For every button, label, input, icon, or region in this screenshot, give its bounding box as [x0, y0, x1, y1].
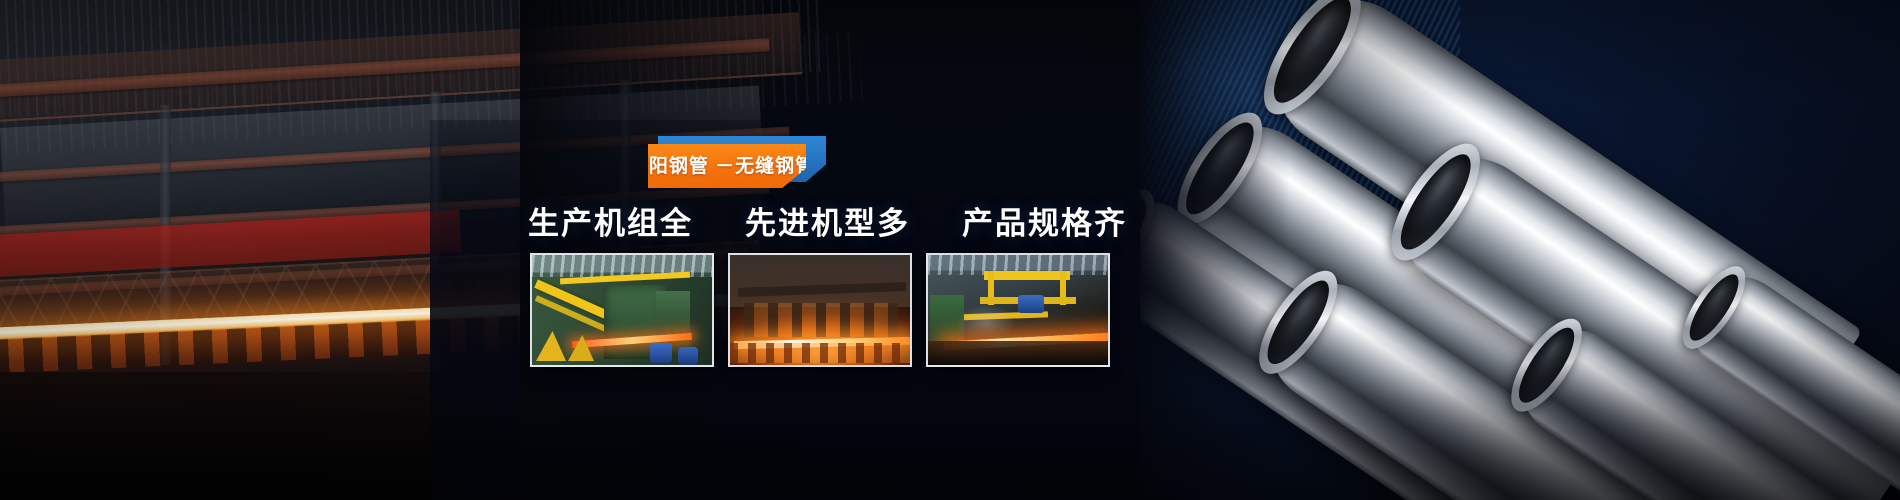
- headline-item-2: 先进机型多: [745, 198, 910, 243]
- headline: 生产机组全 先进机型多 产品规格齐: [528, 198, 1127, 242]
- brand-tag-label: 衡阳钢管 －无缝钢管: [629, 157, 825, 176]
- mill-housing: [730, 255, 910, 307]
- yellow-support: [536, 331, 566, 361]
- thumbnail-strip: [530, 253, 1110, 367]
- machine-frame: [744, 303, 898, 337]
- headline-item-1: 生产机组全: [528, 198, 693, 243]
- thumbnail-hot-rolling-line[interactable]: [728, 253, 912, 367]
- steel-pipes-scene: [1140, 0, 1900, 500]
- thumbnail-rolling-mill-workshop[interactable]: [530, 253, 714, 367]
- yellow-gantry: [984, 271, 1070, 280]
- pipes-left-fade: [1140, 0, 1290, 500]
- thumbnail-steel-billet-workshop[interactable]: [926, 253, 1110, 367]
- blue-motor: [650, 343, 672, 363]
- brand-tag: 衡阳钢管 －无缝钢管: [648, 136, 828, 188]
- brand-tag-orange-plate: 衡阳钢管 －无缝钢管: [648, 144, 806, 188]
- roller-table: [730, 343, 910, 363]
- blue-motor: [678, 347, 698, 365]
- scrap-pile: [928, 341, 1108, 365]
- headline-item-3: 产品规格齐: [962, 198, 1127, 243]
- left-edge-fade: [520, 0, 780, 500]
- promo-banner: 衡阳钢管 －无缝钢管 生产机组全 先进机型多 产品规格齐: [0, 0, 1900, 500]
